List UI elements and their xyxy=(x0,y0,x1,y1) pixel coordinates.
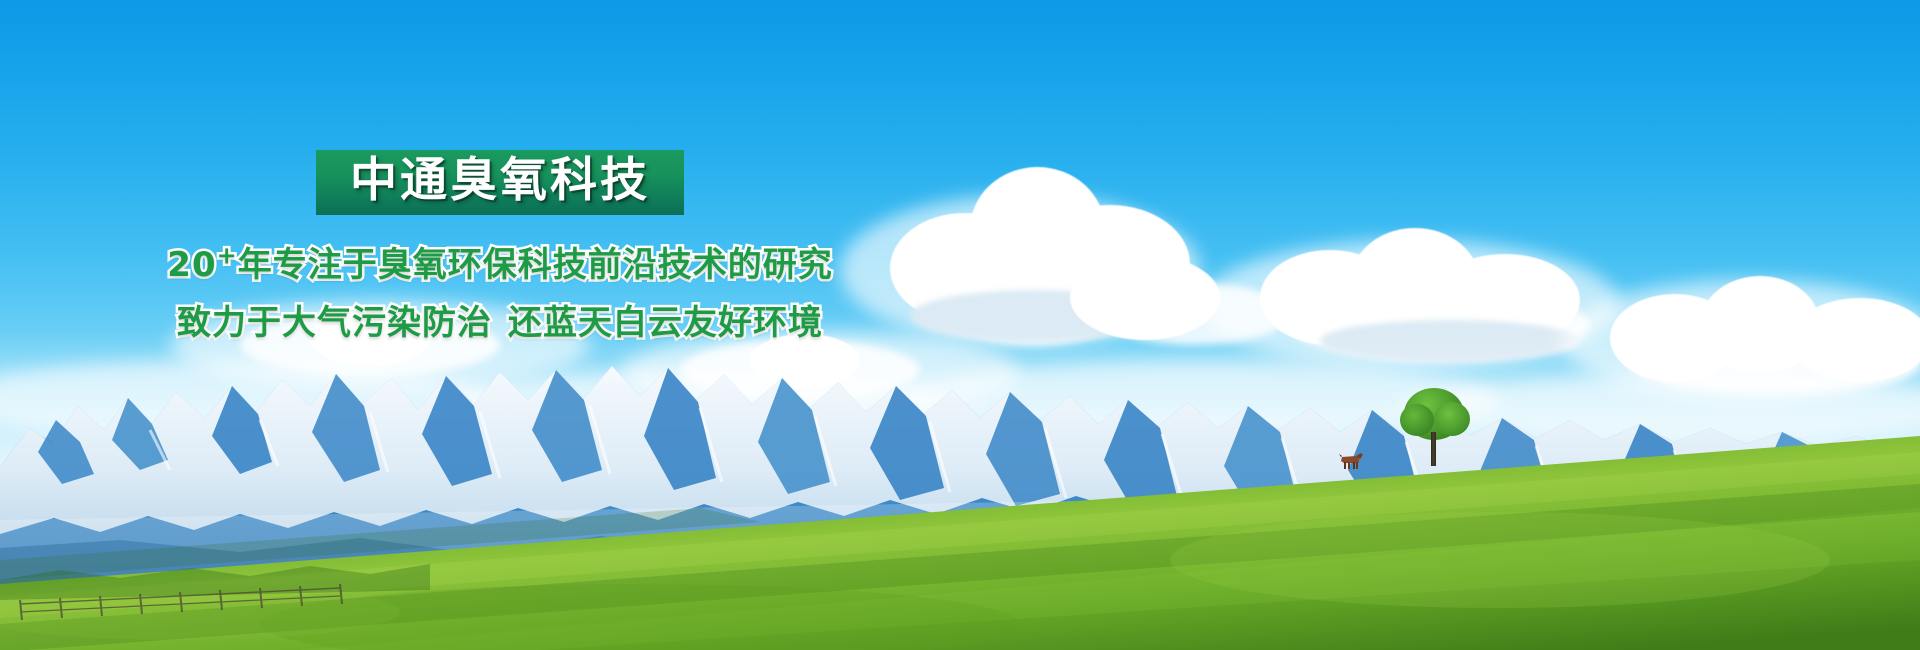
banner-copy: 中通臭氧科技 20+年专注于臭氧环保科技前沿技术的研究 致力于大气污染防治还蓝天… xyxy=(0,150,1000,348)
lone-tree xyxy=(1400,388,1470,470)
brand-name: 中通臭氧科技 xyxy=(350,157,650,204)
slogan-line-2: 致力于大气污染防治还蓝天白云友好环境 xyxy=(0,299,1000,347)
grazing-horse xyxy=(1338,450,1364,470)
hero-banner: 中通臭氧科技 20+年专注于臭氧环保科技前沿技术的研究 致力于大气污染防治还蓝天… xyxy=(0,0,1920,650)
slogan-2-part-b: 还蓝天白云友好环境 xyxy=(508,303,823,343)
tree-trunk xyxy=(1431,432,1436,466)
brand-banner: 中通臭氧科技 xyxy=(316,150,684,215)
slogan-2-part-a: 致力于大气污染防治 xyxy=(177,303,492,343)
tree-canopy-lobe-right xyxy=(1434,402,1470,436)
slogan-1-superscript: + xyxy=(217,242,238,270)
tree-canopy-lobe-left xyxy=(1400,404,1434,436)
slogan-line-1: 20+年专注于臭氧环保科技前沿技术的研究 xyxy=(0,241,1000,289)
slogan-1-rest: 年专注于臭氧环保科技前沿技术的研究 xyxy=(238,245,833,285)
slogan-1-number: 20 xyxy=(167,245,216,285)
